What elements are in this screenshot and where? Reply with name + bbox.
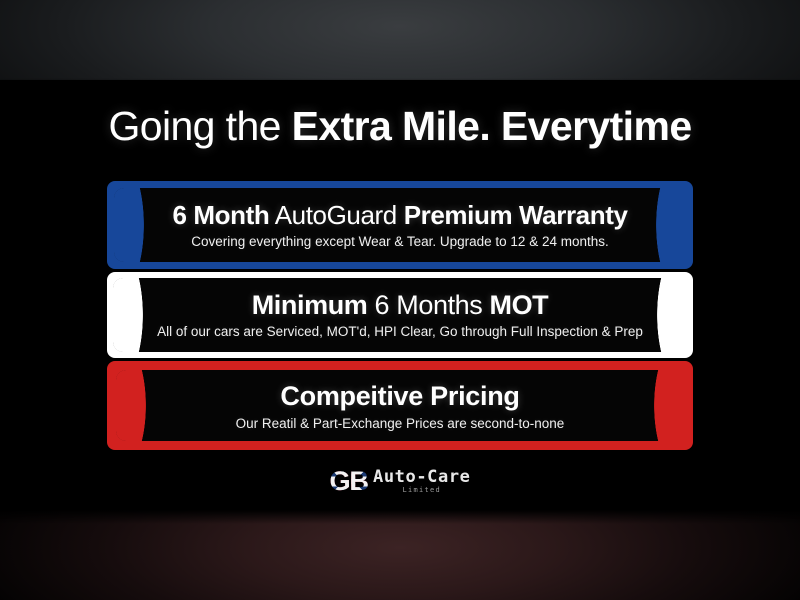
bottom-gradient-band <box>0 510 800 600</box>
banner-pricing-subtitle: Our Reatil & Part-Exchange Prices are se… <box>236 415 565 433</box>
banner-mot-frame: Minimum 6 Months MOT All of our cars are… <box>107 272 693 358</box>
banner-warranty-title-bold-1: 6 Month <box>172 200 269 230</box>
brand-suffix: Limited <box>402 486 441 495</box>
banner-warranty-title-bold-2: Premium Warranty <box>404 200 628 230</box>
union-jack-flag-icon: GB <box>329 468 368 495</box>
banner-pricing-inner: Compeitive Pricing Our Reatil & Part-Exc… <box>116 370 684 441</box>
banner-mot-title-bold-1: Minimum <box>252 290 368 320</box>
headline-light-text: Going the <box>108 103 291 149</box>
banner-warranty: 6 Month AutoGuard Premium Warranty Cover… <box>107 181 693 269</box>
banner-mot: Minimum 6 Months MOT All of our cars are… <box>107 272 693 358</box>
banner-warranty-subtitle: Covering everything except Wear & Tear. … <box>191 233 609 251</box>
banner-pricing: Compeitive Pricing Our Reatil & Part-Exc… <box>107 361 693 450</box>
brand-logo-text: Auto-Care Limited <box>373 468 471 495</box>
page-title: Going the Extra Mile. Everytime <box>0 100 800 152</box>
top-gradient-band <box>0 0 800 88</box>
banner-mot-subtitle: All of our cars are Serviced, MOT'd, HPI… <box>157 323 643 341</box>
banner-warranty-title: 6 Month AutoGuard Premium Warranty <box>172 200 627 230</box>
headline-bold-text: Extra Mile. Everytime <box>292 103 692 149</box>
banner-pricing-title: Compeitive Pricing <box>280 379 519 413</box>
banner-mot-title-light: 6 Months <box>367 290 489 320</box>
banner-warranty-frame: 6 Month AutoGuard Premium Warranty Cover… <box>107 181 693 269</box>
banner-pricing-frame: Compeitive Pricing Our Reatil & Part-Exc… <box>107 361 693 450</box>
banner-pricing-title-bold-1: Compeitive Pricing <box>280 381 519 411</box>
banner-mot-inner: Minimum 6 Months MOT All of our cars are… <box>113 278 687 352</box>
banner-mot-title: Minimum 6 Months MOT <box>252 289 549 321</box>
banner-warranty-inner: 6 Month AutoGuard Premium Warranty Cover… <box>114 188 686 262</box>
banner-mot-title-bold-2: MOT <box>489 290 548 320</box>
brand-logo: GB Auto-Care Limited <box>0 468 800 495</box>
banner-warranty-title-light: AutoGuard <box>269 200 403 230</box>
promo-banner-image: Going the Extra Mile. Everytime 6 Month … <box>0 0 800 600</box>
brand-name: Auto-Care <box>373 468 471 486</box>
